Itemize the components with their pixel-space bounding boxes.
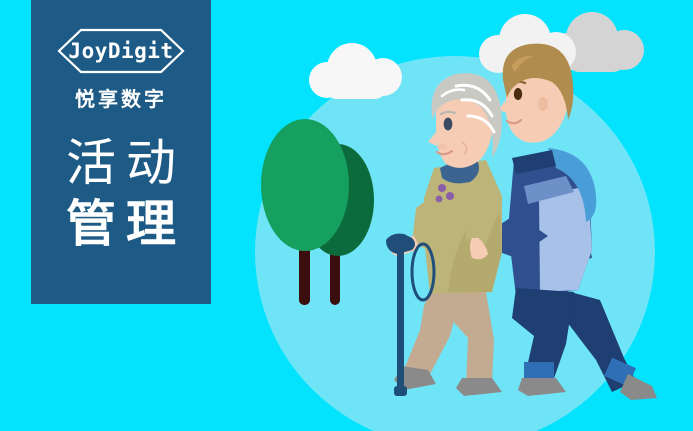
logo: JoyDigit 悦享数字 bbox=[31, 26, 211, 112]
woman-button bbox=[438, 184, 446, 192]
woman-eye bbox=[444, 118, 453, 131]
woman-button bbox=[436, 196, 443, 203]
brand-panel: JoyDigit 悦享数字 活动 管理 bbox=[31, 0, 211, 304]
page-title-line2: 管理 bbox=[31, 194, 211, 255]
poster-canvas: JoyDigit 悦享数字 活动 管理 bbox=[0, 0, 693, 431]
young-man-eye bbox=[514, 88, 522, 100]
page-title-line1: 活动 bbox=[31, 133, 211, 194]
logo-chinese-name: 悦享数字 bbox=[31, 83, 211, 112]
woman-blush bbox=[437, 144, 447, 150]
young-man-ear bbox=[538, 97, 548, 111]
woman-button bbox=[446, 192, 454, 200]
cane-shaft bbox=[397, 250, 404, 392]
logo-wordmark: JoyDigit bbox=[55, 26, 187, 76]
page-title: 活动 管理 bbox=[31, 133, 211, 255]
young-man-front-cuff bbox=[524, 362, 554, 380]
cane-tip bbox=[394, 386, 407, 396]
logo-mark: JoyDigit bbox=[55, 26, 187, 76]
